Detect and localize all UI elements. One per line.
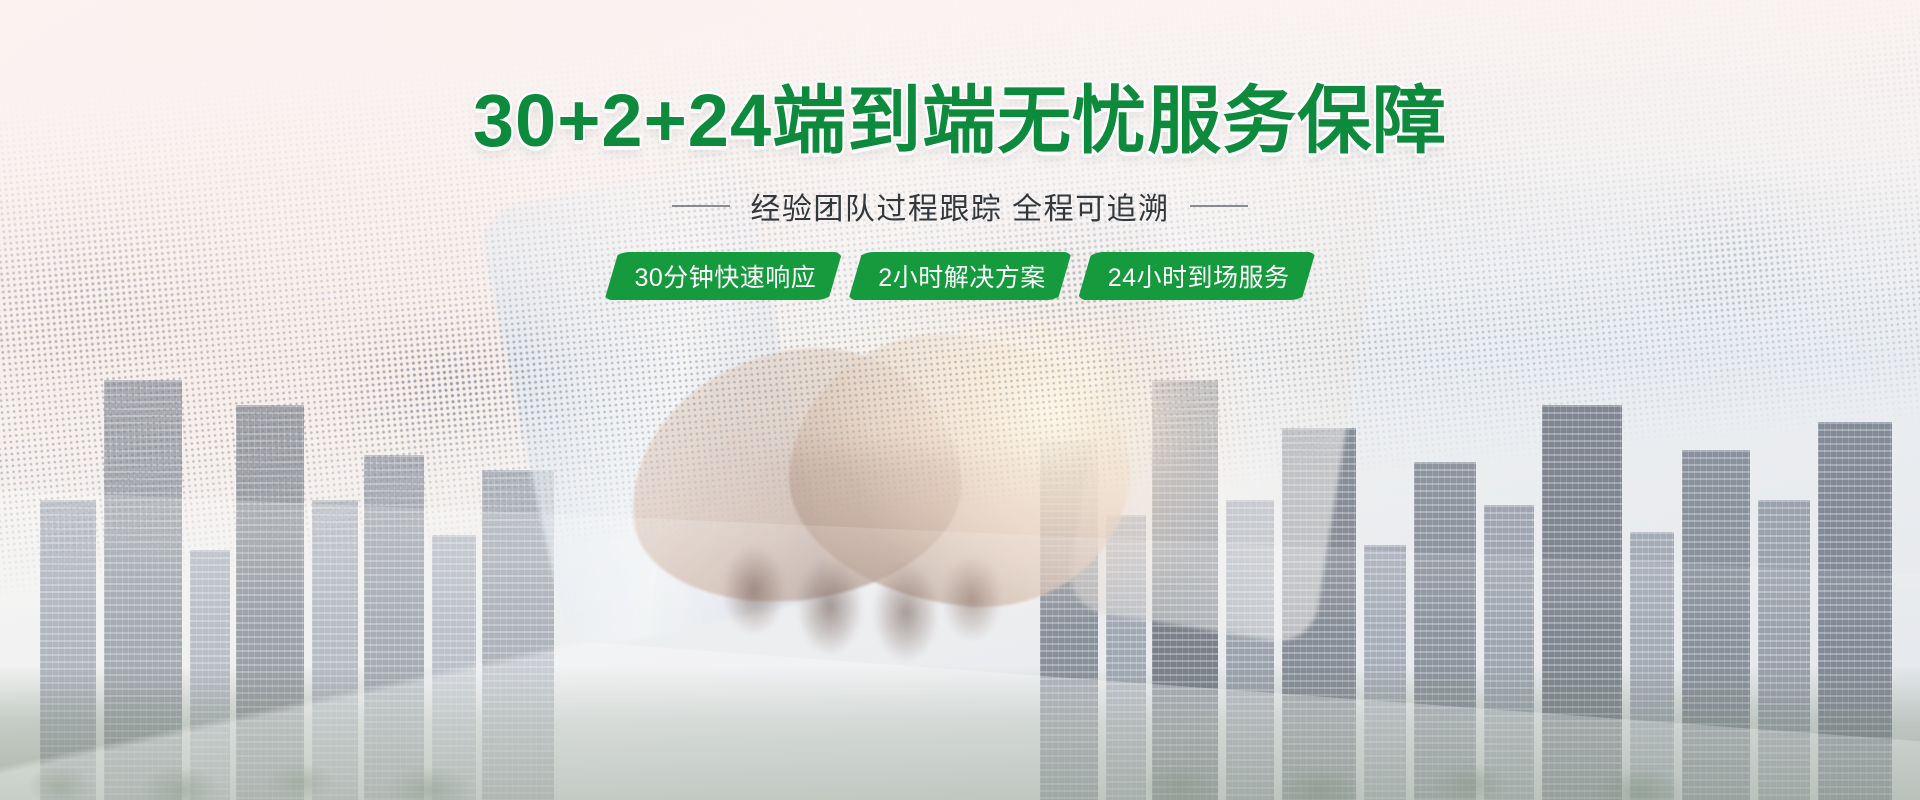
banner-subtitle: 经验团队过程跟踪 全程可追溯 [750, 184, 1169, 228]
pill-solution-time[interactable]: 2小时解决方案 [848, 252, 1071, 300]
page-title: 30+2+24端到端无忧服务保障 [473, 84, 1447, 158]
service-promise-pills: 30分钟快速响应 2小时解决方案 24小时到场服务 [604, 252, 1315, 300]
right-rule-divider [1190, 205, 1248, 207]
pill-response-time[interactable]: 30分钟快速响应 [604, 252, 842, 300]
subtitle-row: 经验团队过程跟踪 全程可追溯 [672, 184, 1247, 228]
banner-content: 30+2+24端到端无忧服务保障 经验团队过程跟踪 全程可追溯 30分钟快速响应… [0, 0, 1920, 800]
hero-banner: 30+2+24端到端无忧服务保障 经验团队过程跟踪 全程可追溯 30分钟快速响应… [0, 0, 1920, 800]
pill-label: 30分钟快速响应 [634, 258, 816, 294]
pill-onsite-time[interactable]: 24小时到场服务 [1078, 252, 1316, 300]
left-rule-divider [672, 205, 730, 207]
pill-label: 2小时解决方案 [878, 258, 1045, 294]
pill-label: 24小时到场服务 [1108, 258, 1290, 294]
